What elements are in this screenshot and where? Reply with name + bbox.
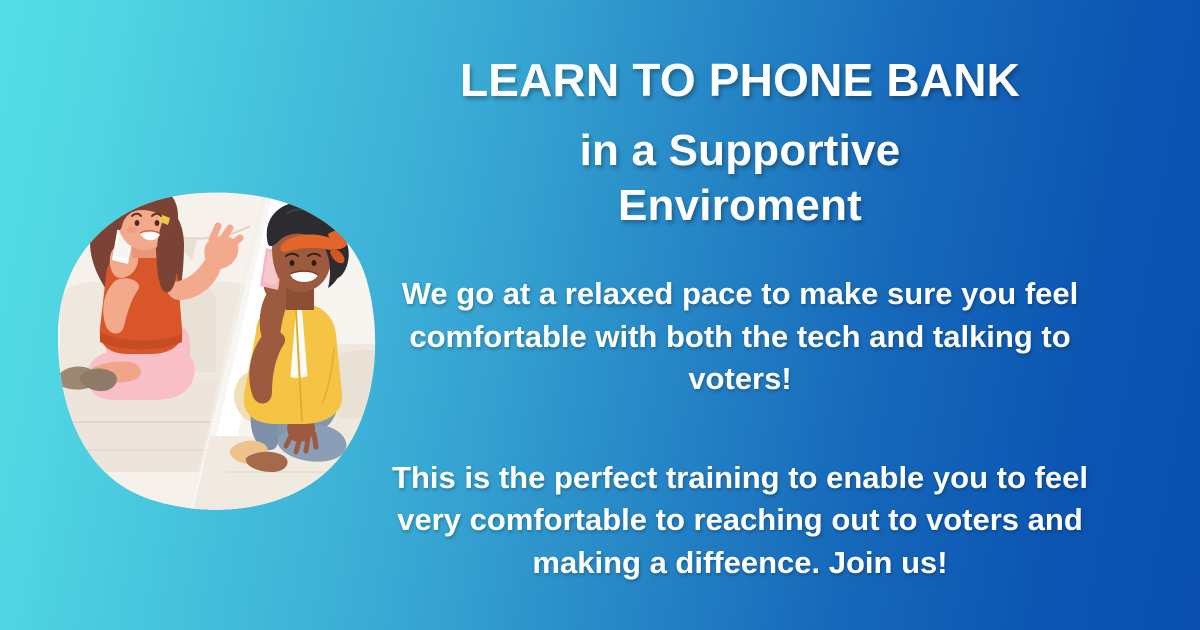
text-content-column: LEARN TO PHONE BANK in a Supportive Envi…	[382, 30, 1098, 610]
body-paragraph-1: We go at a relaxed pace to make sure you…	[390, 273, 1090, 400]
poster-canvas: LEARN TO PHONE BANK in a Supportive Envi…	[0, 0, 1200, 630]
headline-line-1: LEARN TO PHONE BANK	[460, 54, 1020, 107]
headline-line-2: in a Supportive	[580, 125, 901, 176]
headline-line-3: Enviroment	[618, 180, 862, 231]
two-people-on-phone-illustration	[40, 186, 380, 516]
body-paragraph-2: This is the perfect training to enable y…	[390, 457, 1090, 584]
